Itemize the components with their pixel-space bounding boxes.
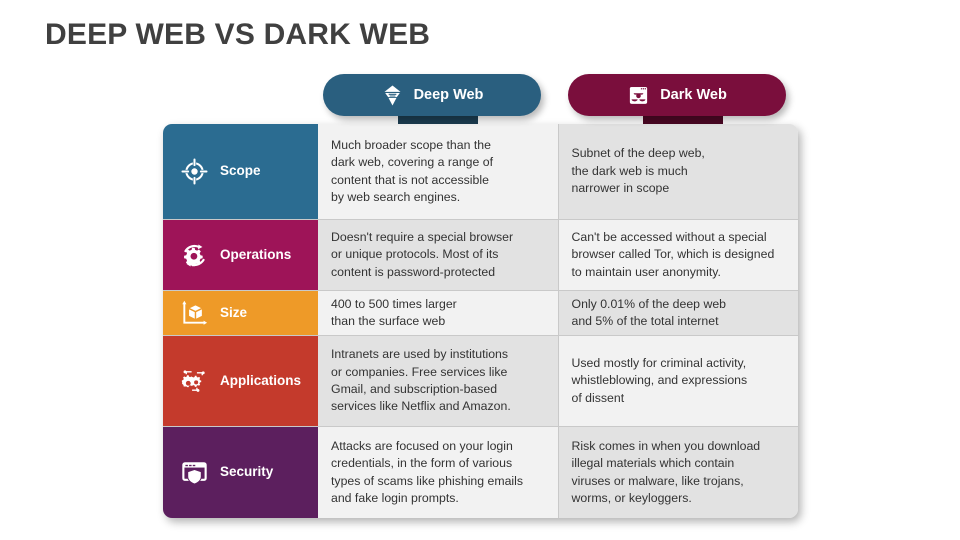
box-measure-icon <box>179 298 210 329</box>
column-header-label: Dark Web <box>660 87 727 103</box>
row-category-scope[interactable]: Scope <box>163 124 318 219</box>
cell-deep-web-operations: Doesn't require a special browser or uni… <box>318 220 559 290</box>
column-header-deep-web[interactable]: Deep Web <box>323 74 541 116</box>
row-category-label: Security <box>220 465 273 480</box>
row-category-security[interactable]: Security <box>163 427 318 518</box>
column-header-label: Deep Web <box>414 87 484 103</box>
table-row: Size 400 to 500 times larger than the su… <box>163 291 798 336</box>
cell-dark-web-size: Only 0.01% of the deep web and 5% of the… <box>559 291 799 335</box>
cell-dark-web-scope: Subnet of the deep web, the dark web is … <box>559 124 799 219</box>
row-category-label: Size <box>220 306 247 321</box>
page-title: DEEP WEB VS DARK WEB <box>45 18 430 52</box>
row-category-size[interactable]: Size <box>163 291 318 335</box>
iceberg-icon <box>381 84 404 107</box>
row-category-label: Scope <box>220 164 261 179</box>
browser-shield-icon <box>179 457 210 488</box>
comparison-table: Scope Much broader scope than the dark w… <box>163 124 798 518</box>
cell-deep-web-applications: Intranets are used by institutions or co… <box>318 336 559 426</box>
cell-dark-web-operations: Can't be accessed without a special brow… <box>559 220 799 290</box>
cell-deep-web-scope: Much broader scope than the dark web, co… <box>318 124 559 219</box>
row-category-label: Applications <box>220 374 301 389</box>
target-icon <box>179 156 210 187</box>
cell-dark-web-applications: Used mostly for criminal activity, whist… <box>559 336 799 426</box>
cell-dark-web-security: Risk comes in when you download illegal … <box>559 427 799 518</box>
row-category-operations[interactable]: Operations <box>163 220 318 290</box>
column-header-dark-web[interactable]: Dark Web <box>568 74 786 116</box>
table-row: Scope Much broader scope than the dark w… <box>163 124 798 220</box>
row-category-label: Operations <box>220 248 291 263</box>
table-row: Applications Intranets are used by insti… <box>163 336 798 427</box>
table-row: Operations Doesn't require a special bro… <box>163 220 798 291</box>
table-row: Security Attacks are focused on your log… <box>163 427 798 518</box>
gear-refresh-icon <box>179 240 210 271</box>
cell-deep-web-size: 400 to 500 times larger than the surface… <box>318 291 559 335</box>
gears-network-icon <box>179 366 210 397</box>
row-category-applications[interactable]: Applications <box>163 336 318 426</box>
cell-deep-web-security: Attacks are focused on your login creden… <box>318 427 559 518</box>
spy-browser-icon <box>627 84 650 107</box>
